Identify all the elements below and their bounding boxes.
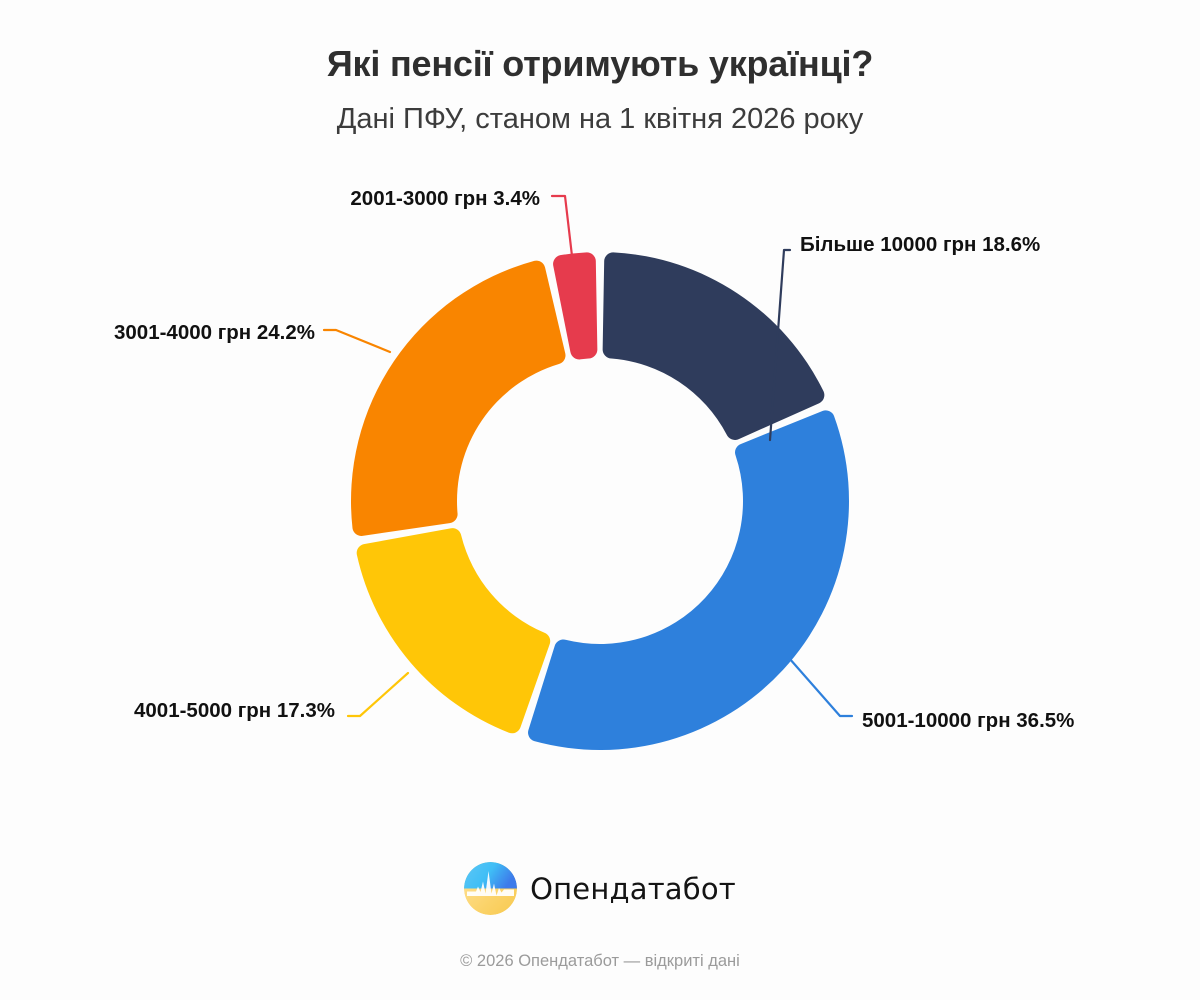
slice-label-more-than-10000: Більше 10000 грн 18.6%: [800, 233, 1040, 257]
slice-5001-10000: [528, 410, 849, 750]
opendatabot-logo-icon: [464, 862, 517, 915]
slice-4001-5000: [357, 528, 551, 733]
leader-line-5001-10000: [782, 650, 852, 716]
slice-3001-4000: [351, 261, 565, 536]
slice-label-4001-5000: 4001-5000 грн 17.3%: [0, 699, 335, 723]
donut-slices-group: [351, 252, 849, 750]
donut-chart: [0, 0, 1200, 1000]
infographic-canvas: Які пенсії отримують українці? Дані ПФУ,…: [0, 0, 1200, 1000]
slice-more-than-10000: [603, 252, 825, 440]
slice-label-3001-4000: 3001-4000 грн 24.2%: [0, 321, 315, 345]
slice-label-2001-3000: 2001-3000 грн 3.4%: [0, 187, 540, 211]
leader-line-4001-5000: [348, 673, 408, 716]
slice-label-5001-10000: 5001-10000 грн 36.5%: [862, 709, 1074, 733]
brand-name: Опендатабот: [530, 872, 736, 906]
leader-line-3001-4000: [324, 330, 390, 352]
brand-footer: Опендатабот: [0, 862, 1200, 915]
leader-line-2001-3000: [552, 196, 572, 256]
copyright-text: © 2026 Опендатабот — відкриті дані: [0, 952, 1200, 971]
